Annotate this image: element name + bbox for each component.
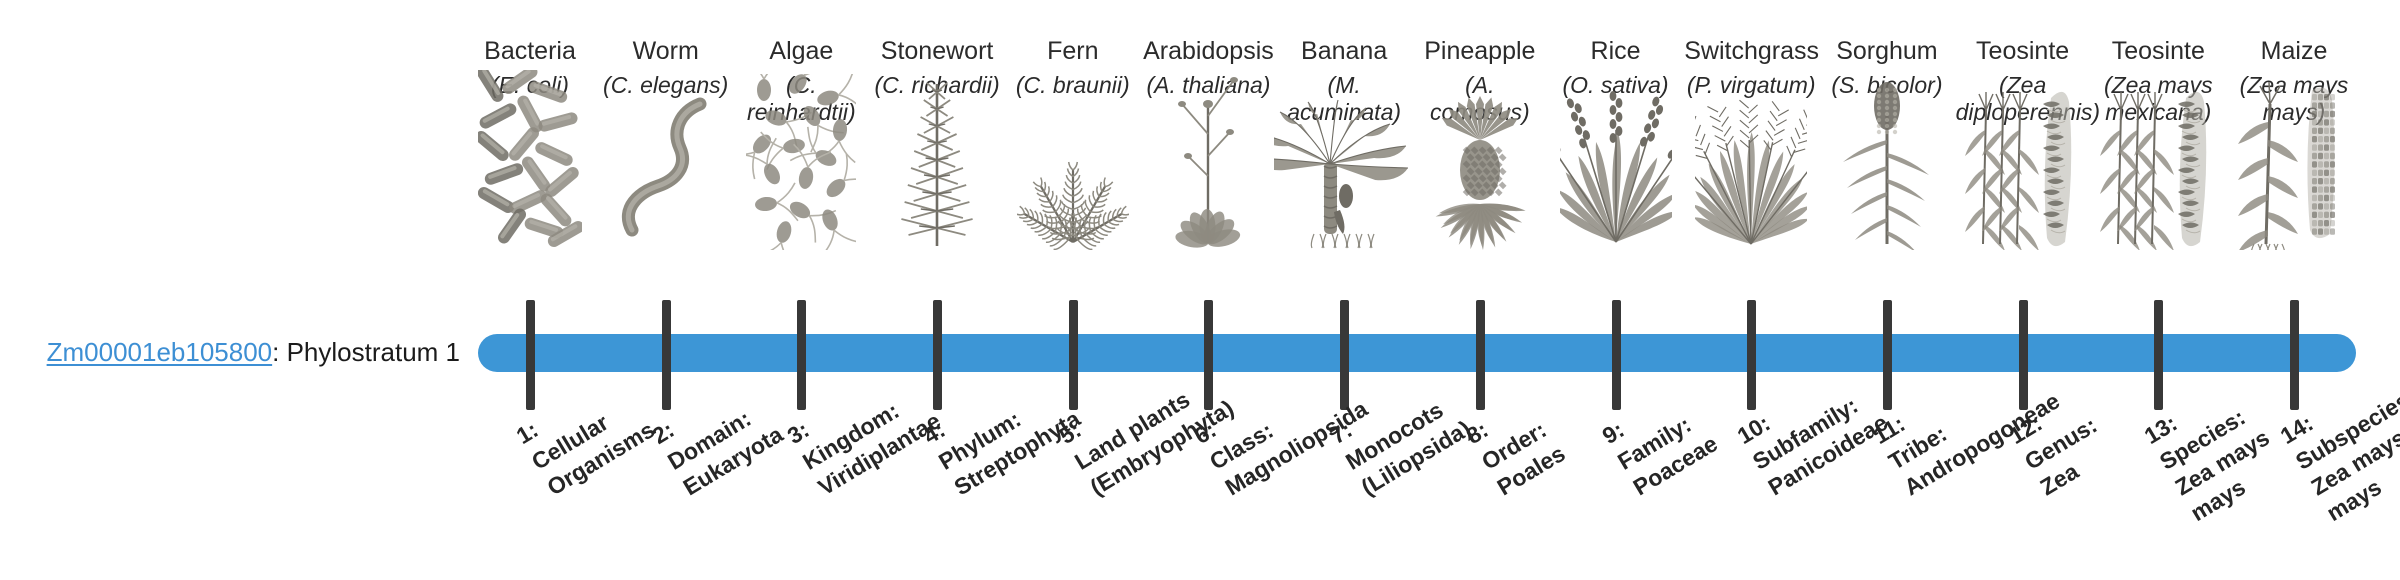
species-common-name: Bacteria <box>463 36 597 68</box>
species-column: Banana(M. acuminata) <box>1277 36 1411 311</box>
species-common-name: Switchgrass <box>1684 36 1818 68</box>
species-column: Maize(Zea mays mays) <box>2227 36 2361 311</box>
species-header-strip: Bacteria(E. coli)Worm(C. elegans)Algae(C… <box>478 36 2358 311</box>
gene-label-separator: : <box>272 337 286 367</box>
teosinte-plant-ear-icon <box>2091 130 2225 250</box>
species-common-name: Algae <box>734 36 868 68</box>
nematode-worm-icon <box>599 130 733 250</box>
species-common-name: Maize <box>2227 36 2361 68</box>
gene-phylostratum-value: Phylostratum 1 <box>287 337 460 367</box>
species-common-name: Worm <box>599 36 733 68</box>
species-column: Bacteria(E. coli) <box>463 36 597 311</box>
species-common-name: Rice <box>1549 36 1683 68</box>
species-column: Algae(C. reinhardtii) <box>734 36 868 311</box>
sorghum-panicle-icon <box>1820 130 1954 250</box>
species-column: Teosinte(Zea diploperennis) <box>1956 36 2090 311</box>
switchgrass-icon <box>1684 130 1818 250</box>
gene-phylostratum-label: Zm00001eb105800: Phylostratum 1 <box>40 337 460 367</box>
species-column: Stonewort(C. richardii) <box>870 36 1004 311</box>
species-column: Arabidopsis(A. thaliana) <box>1141 36 1275 311</box>
fern-frond-icon <box>1006 130 1140 250</box>
arabidopsis-rosette-icon <box>1141 130 1275 250</box>
species-common-name: Teosinte <box>1956 36 2090 68</box>
species-column: Teosinte(Zea mays mexicana) <box>2091 36 2225 311</box>
phylostratum-tick[interactable] <box>526 300 535 410</box>
phylostratigraphy-figure: Zm00001eb105800: Phylostratum 1 Bacteria… <box>0 0 2400 580</box>
stonewort-icon <box>870 130 1004 250</box>
species-column: Pineapple(A. comosus) <box>1413 36 1547 311</box>
species-common-name: Fern <box>1006 36 1140 68</box>
species-column: Rice(O. sativa) <box>1549 36 1683 311</box>
banana-plant-icon <box>1277 130 1411 250</box>
species-common-name: Pineapple <box>1413 36 1547 68</box>
maize-plant-cob-icon <box>2227 130 2361 250</box>
bacteria-rods-icon <box>463 130 597 250</box>
species-column: Fern(C. braunii) <box>1006 36 1140 311</box>
species-column: Worm(C. elegans) <box>599 36 733 311</box>
species-column: Sorghum(S. bicolor) <box>1820 36 1954 311</box>
teosinte-plant-ear-icon <box>1956 130 2090 250</box>
gene-id-link[interactable]: Zm00001eb105800 <box>47 337 273 367</box>
species-common-name: Banana <box>1277 36 1411 68</box>
pineapple-plant-icon <box>1413 130 1547 250</box>
species-common-name: Teosinte <box>2091 36 2225 68</box>
phylostratum-label-group: 1: Cellular Organisms2: Domain: Eukaryot… <box>478 418 2356 580</box>
species-column: Switchgrass(P. virgatum) <box>1684 36 1818 311</box>
rice-plant-icon <box>1549 130 1683 250</box>
species-common-name: Sorghum <box>1820 36 1954 68</box>
green-algae-cells-icon <box>734 130 868 250</box>
species-common-name: Stonewort <box>870 36 1004 68</box>
species-common-name: Arabidopsis <box>1141 36 1275 68</box>
